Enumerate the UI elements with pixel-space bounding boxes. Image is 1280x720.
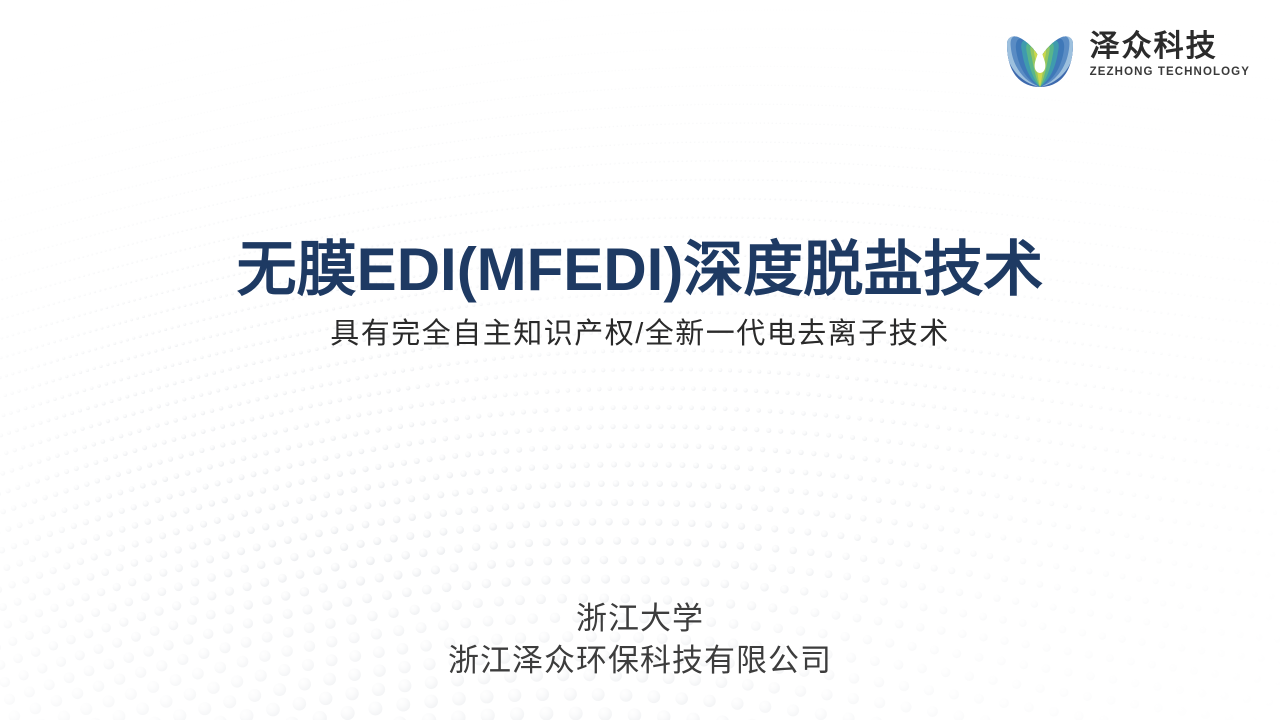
slide-subtitle: 具有完全自主知识产权/全新一代电去离子技术 xyxy=(0,317,1280,352)
logo-company-name-en: ZEZHONG TECHNOLOGY xyxy=(1090,66,1250,79)
logo-wordmark: 泽众科技 ZEZHONG TECHNOLOGY xyxy=(1090,29,1250,79)
presentation-title-slide: 泽众科技 ZEZHONG TECHNOLOGY 无膜EDI(MFEDI)深度脱盐… xyxy=(0,0,1280,720)
lotus-waterdrop-logo-icon xyxy=(1002,18,1078,90)
headline-block: 无膜EDI(MFEDI)深度脱盐技术 具有完全自主知识产权/全新一代电去离子技术 xyxy=(0,238,1280,352)
slide-title: 无膜EDI(MFEDI)深度脱盐技术 xyxy=(0,238,1280,303)
affiliation-block: 浙江大学 浙江泽众环保科技有限公司 xyxy=(0,598,1280,682)
affiliation-company: 浙江泽众环保科技有限公司 xyxy=(0,640,1280,682)
affiliation-university: 浙江大学 xyxy=(0,598,1280,640)
logo-company-name-cn: 泽众科技 xyxy=(1090,31,1218,63)
company-logo-lockup: 泽众科技 ZEZHONG TECHNOLOGY xyxy=(1002,18,1250,90)
